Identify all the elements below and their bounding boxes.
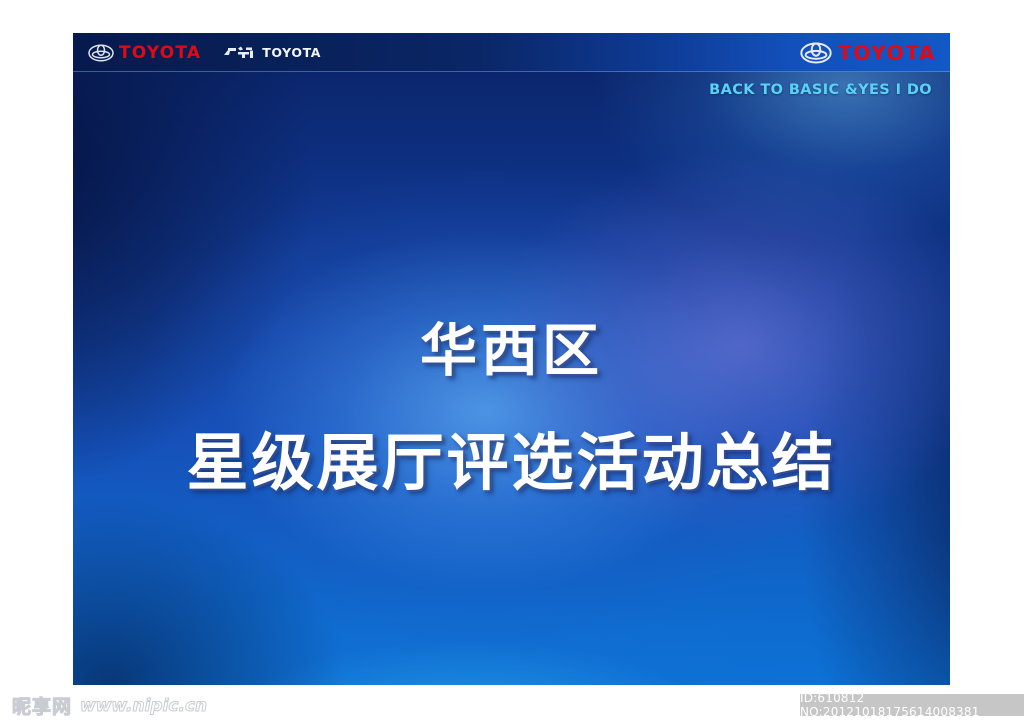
site-watermark: 昵享网 www.nipic.cn xyxy=(12,692,207,719)
toyota-wordmark-left: TOYOTA xyxy=(119,43,201,63)
watermark-site-url: www.nipic.cn xyxy=(80,696,207,716)
slide-title-line-2: 星级展厅评选活动总结 xyxy=(73,412,950,502)
slide-header-bar: TOYOTA TOYOTA xyxy=(73,33,950,72)
header-left-logos: TOYOTA TOYOTA xyxy=(88,43,321,63)
toyota-logo-left: TOYOTA xyxy=(88,43,201,63)
slide-title-block: 华西区 星级展厅评选活动总结 xyxy=(73,33,950,685)
gac-toyota-wordmark: TOYOTA xyxy=(262,45,321,60)
gac-guangqi-mark-icon xyxy=(223,45,259,60)
gac-toyota-logo: TOYOTA xyxy=(223,45,321,60)
presentation-slide: TOYOTA TOYOTA xyxy=(73,33,950,685)
watermark-site-name: 昵享网 xyxy=(12,692,72,719)
slide-title-line-1: 华西区 xyxy=(73,305,950,387)
stock-photo-page: TOYOTA TOYOTA xyxy=(0,0,1024,724)
toyota-emblem-icon-right xyxy=(800,42,832,64)
image-id-strip: ID:610812 NO:20121018175614008381 xyxy=(800,694,1024,716)
toyota-emblem-icon xyxy=(88,44,114,62)
toyota-logo-right: TOYOTA xyxy=(800,41,936,65)
slide-tagline: BACK TO BASIC &YES I DO xyxy=(709,82,932,98)
toyota-wordmark-right: TOYOTA xyxy=(838,41,936,65)
